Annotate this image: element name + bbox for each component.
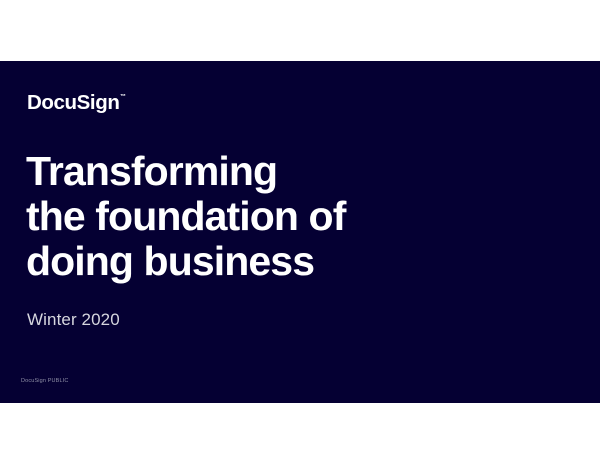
slide-headline: Transforming the foundation of doing bus… bbox=[26, 149, 345, 284]
docusign-logo: DocuSign™ bbox=[27, 93, 125, 114]
slide-subtitle: Winter 2020 bbox=[27, 310, 120, 330]
headline-line-3: doing business bbox=[26, 239, 345, 284]
title-slide: DocuSign™ Transforming the foundation of… bbox=[0, 61, 600, 403]
headline-line-1: Transforming bbox=[26, 149, 345, 194]
docusign-logo-wordmark: DocuSign bbox=[27, 91, 119, 114]
trademark-symbol-icon: ™ bbox=[120, 94, 126, 100]
confidentiality-footer: DocuSign PUBLIC bbox=[21, 378, 69, 385]
headline-line-2: the foundation of bbox=[26, 194, 345, 239]
